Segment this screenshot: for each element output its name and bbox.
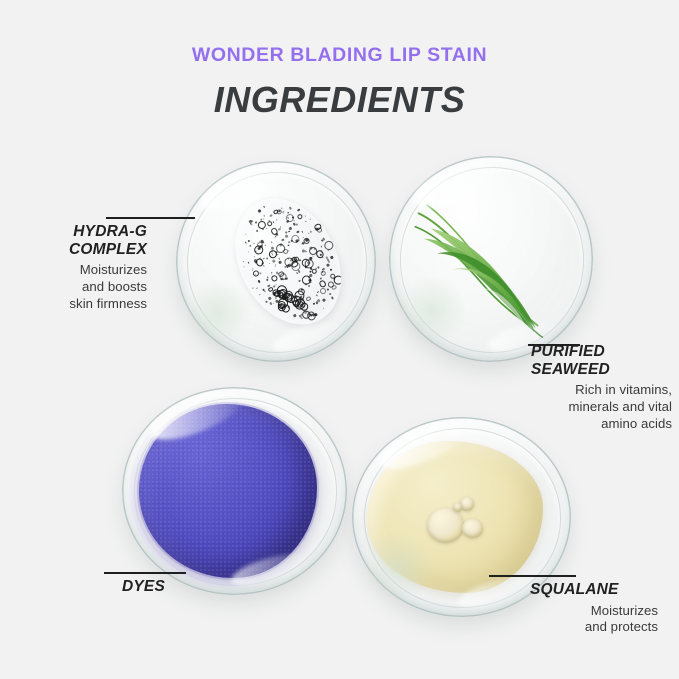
ingredient-description-line: Moisturizes <box>530 603 658 620</box>
gel-speckle <box>323 308 325 310</box>
gel-speckle <box>281 238 284 241</box>
gel-speckle <box>312 255 313 256</box>
gel-speckle <box>273 285 275 287</box>
oil-droplet <box>453 503 462 511</box>
gel-bubble <box>320 270 327 277</box>
gel-speckle <box>310 219 311 220</box>
petri-dish-purified-seaweed <box>389 156 593 362</box>
gel-speckle <box>266 278 269 281</box>
gel-speckle <box>317 291 319 293</box>
gel-speckle <box>285 232 287 234</box>
dish-edge-tint <box>184 278 252 346</box>
gel-bubble <box>282 248 289 255</box>
gel-bubble <box>270 275 278 283</box>
callout-hydra-g-complex: HYDRA-G COMPLEX Moisturizes and boosts s… <box>12 223 147 312</box>
gel-speckle <box>263 215 265 217</box>
gel-speckle <box>305 215 306 216</box>
gel-speckle <box>330 256 333 259</box>
oil-droplet <box>462 519 483 539</box>
gel-speckle <box>317 299 321 303</box>
gel-bubble <box>316 227 322 233</box>
gel-bubble <box>296 213 303 220</box>
gel-speckle <box>331 297 334 300</box>
callout-dyes: DYES <box>122 578 242 596</box>
gel-bubble <box>252 270 260 278</box>
ingredient-description-line: amino acids <box>531 416 672 433</box>
gel-speckle <box>263 206 265 208</box>
gel-speckle <box>302 249 306 253</box>
ingredients-infographic: WONDER BLADING LIP STAIN INGREDIENTS <box>0 0 679 679</box>
gel-bubble <box>290 234 301 245</box>
gel-speckle <box>245 233 246 234</box>
leader-line-hydra-g-complex <box>106 217 195 219</box>
gel-speckle <box>263 258 265 260</box>
gel-speckle <box>305 221 306 222</box>
gel-speckle <box>297 209 300 212</box>
ingredient-name: DYES <box>122 578 242 596</box>
gel-speckle <box>288 245 290 247</box>
gel-speckle <box>289 206 292 209</box>
gel-speckle <box>266 228 267 229</box>
gel-speckle <box>243 260 244 261</box>
gel-speckle <box>254 256 255 257</box>
gel-bubble <box>319 287 327 295</box>
gel-speckle <box>326 289 329 292</box>
gel-speckle <box>253 243 255 245</box>
gel-speckle <box>308 233 309 234</box>
gel-speckle <box>247 251 249 253</box>
gel-speckle <box>288 231 290 233</box>
gel-speckle <box>276 219 277 220</box>
gel-speckle <box>257 279 261 283</box>
gel-speckle <box>307 285 310 288</box>
leader-line-squalane <box>489 575 576 577</box>
ingredient-name-line: SQUALANE <box>530 581 675 599</box>
ingredient-description-line: and protects <box>530 619 658 636</box>
gel-speckle <box>273 221 275 223</box>
gel-speckle <box>283 213 284 214</box>
gel-speckle <box>297 270 300 273</box>
gel-speckle <box>273 303 275 305</box>
petri-dish-dyes <box>122 387 347 595</box>
ingredient-name-line: HYDRA-G <box>12 223 147 241</box>
gel-speckle <box>303 237 304 238</box>
leader-line-dyes <box>104 572 186 574</box>
gel-speckle <box>243 266 245 268</box>
ingredient-name-line: PURIFIED <box>531 343 673 361</box>
gel-speckle <box>301 231 302 232</box>
gel-speckle <box>272 260 276 264</box>
gel-speckle <box>274 265 276 267</box>
dish-edge-tint <box>361 533 435 601</box>
gel-speckle <box>269 214 273 218</box>
ingredient-description-line: skin firmness <box>12 296 147 313</box>
gel-speckle <box>326 263 330 267</box>
gel-speckle <box>259 273 262 276</box>
gel-speckle <box>322 299 325 302</box>
gel-bubble <box>305 296 312 303</box>
gel-speckle <box>269 263 271 265</box>
gel-speckle <box>322 257 324 259</box>
callout-squalane: SQUALANE Moisturizes and protects <box>530 581 675 636</box>
ingredient-description: Moisturizes and protects <box>530 603 658 636</box>
ingredient-description-line: minerals and vital <box>531 399 672 416</box>
gel-speckle <box>259 294 260 295</box>
gel-speckle <box>245 242 247 244</box>
gel-speckle <box>274 237 276 239</box>
gel-speckle <box>264 245 266 247</box>
ingredient-description: Rich in vitamins, minerals and vital ami… <box>531 382 672 432</box>
gel-speckle <box>263 265 265 267</box>
ingredient-description-line: Moisturizes <box>12 262 147 279</box>
header: WONDER BLADING LIP STAIN INGREDIENTS <box>0 0 679 118</box>
ingredient-name: PURIFIED SEAWEED <box>531 343 673 378</box>
gel-speckle <box>289 227 292 230</box>
ingredient-name-line: DYES <box>122 578 242 596</box>
gel-speckle <box>295 224 298 227</box>
gel-speckle <box>248 262 250 264</box>
gel-speckle <box>278 228 282 232</box>
gel-speckle <box>317 266 320 269</box>
gel-speckle <box>268 297 272 301</box>
ingredient-name: SQUALANE <box>530 581 675 599</box>
gel-speckle <box>293 314 296 317</box>
gel-speckle <box>265 301 267 303</box>
gel-speckle <box>255 230 258 233</box>
oil-droplet <box>460 497 474 511</box>
gel-speckle <box>285 235 289 239</box>
ingredient-name-line: COMPLEX <box>12 241 147 259</box>
callout-purified-seaweed: PURIFIED SEAWEED Rich in vitamins, miner… <box>531 343 673 432</box>
dish-edge-tint <box>397 275 466 345</box>
gel-speckle <box>264 290 266 292</box>
gel-speckle <box>247 239 251 243</box>
ingredient-description-line: and boosts <box>12 279 147 296</box>
gel-speckle <box>328 261 330 263</box>
ingredient-name-line: SEAWEED <box>531 361 673 379</box>
gel-speckle <box>296 231 299 234</box>
gel-speckle <box>329 293 332 296</box>
gel-speckle <box>278 261 282 265</box>
gel-speckle <box>263 218 264 219</box>
gel-speckle <box>316 294 318 296</box>
ingredient-description: Moisturizes and boosts skin firmness <box>12 262 147 312</box>
gel-speckle <box>256 288 258 290</box>
gel-speckle <box>330 268 333 271</box>
page-title: INGREDIENTS <box>0 82 679 118</box>
gel-speckle <box>271 273 273 275</box>
gel-speckle <box>249 245 252 248</box>
gel-speckle <box>251 224 253 226</box>
ingredient-name: HYDRA-G COMPLEX <box>12 223 147 258</box>
gel-speckle <box>321 246 323 248</box>
gel-speckle <box>271 242 273 244</box>
ingredient-description-line: Rich in vitamins, <box>531 382 672 399</box>
oil-droplet <box>427 508 464 543</box>
product-subtitle: WONDER BLADING LIP STAIN <box>0 46 679 66</box>
petri-dish-hydra-g-complex <box>176 161 376 362</box>
gel-speckle <box>253 288 254 289</box>
gel-speckle <box>266 258 268 260</box>
gel-speckle <box>258 209 262 213</box>
